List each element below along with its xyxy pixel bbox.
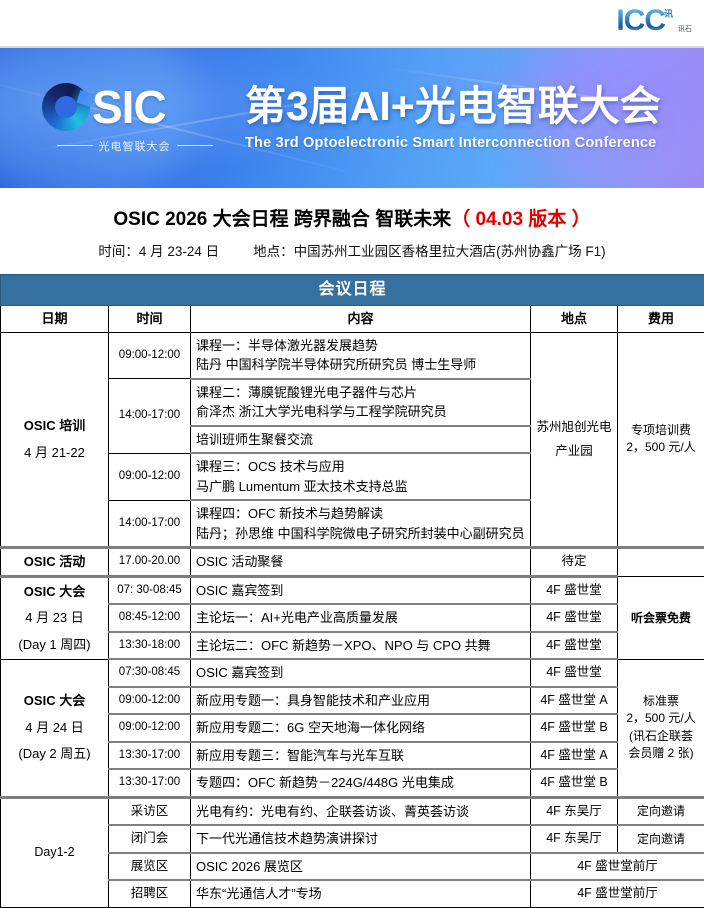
osic-logo-text: SIC [92,84,166,130]
col-header-time: 时间 [109,306,191,333]
rule-right [177,145,213,146]
date-line-1: OSIC 培训 [24,418,85,433]
page-title-version: （ 04.03 版本 ） [451,209,590,230]
event-time-label: 时间：4 月 23-24 日 [98,244,219,259]
cell-venue: 4F 盛世堂 [531,659,618,687]
date-line-2: 4 月 21-22 [6,443,103,463]
table-title: 会议日程 [1,275,704,306]
cell-phase: 闭门会 [109,825,191,853]
osic-logo: SIC 光电智联大会 [42,83,227,154]
cell-time: 13:30-17:00 [109,769,191,797]
content-line-2: 陆丹 中国科学院半导体研究所研究员 博士生导师 [196,355,525,375]
icc-logo-chinese: 讯石 [678,26,694,36]
icc-logo-letters: ICC [616,6,665,36]
cell-venue: 4F 东吴厅 [531,825,618,853]
cell-phase: 采访区 [109,797,191,825]
cell-venue: 4F 盛世堂 [531,604,618,632]
cell-content: 课程三：OCS 技术与应用 马广鹏 Lumentum 亚太技术支持总监 [191,453,531,500]
col-header-fee: 费用 [618,306,704,333]
cell-content: OSIC 2026 展览区 [191,853,531,881]
page-title-main: OSIC 2026 大会日程 跨界融合 智联未来 [113,209,451,230]
fee-line-2: 2，500 元/人 [623,710,699,727]
cell-venue-merged: 4F 盛世堂前厅 [531,853,704,881]
headline-block: OSIC 2026 大会日程 跨界融合 智联未来（ 04.03 版本 ） 时间：… [0,188,704,266]
cell-content: OSIC 嘉宾签到 [191,576,531,604]
cell-fee-day2: 标准票 2，500 元/人 (讯石企联荟 会员赠 2 张) [618,659,704,797]
fee-line-1: 标准票 [623,693,699,710]
cell-content: 课程四：OFC 新技术与趋势解读 陆丹；孙思维 中国科学院微电子研究所封装中心副… [191,500,531,548]
rule-left [57,145,93,146]
date-line-3: (Day 1 周四) [6,635,103,655]
venue-line-1: 苏州旭创光电 [536,418,612,437]
cell-content: OSIC 嘉宾签到 [191,659,531,687]
fee-line-2: 2，500 元/人 [623,439,699,456]
cell-phase: 招聘区 [109,880,191,907]
col-header-date: 日期 [1,306,109,333]
banner-title-cn: 第3届AI+光电智联大会 [245,85,661,128]
cell-time: 13:30-18:00 [109,632,191,660]
cell-fee: 定向邀请 [618,825,704,853]
page-subtitle: 时间：4 月 23-24 日地点：中国苏州工业园区香格里拉大酒店(苏州协鑫广场 … [0,240,704,260]
event-place-label: 地点：中国苏州工业园区香格里拉大酒店(苏州协鑫广场 F1) [253,244,606,259]
table-row: Day1-2 采访区 光电有约：光电有约、企联荟访谈、菁英荟访谈 4F 东吴厅 … [1,797,704,825]
content-line-1: 课程二：薄膜铌酸锂光电子器件与芯片 [196,383,525,403]
cell-time: 07:30-08:45 [109,659,191,687]
date-line-2: 4 月 24 日 [6,718,103,738]
cell-content: 光电有约：光电有约、企联荟访谈、菁英荟访谈 [191,797,531,825]
cell-content: 课程一：半导体激光器发展趋势 陆丹 中国科学院半导体研究所研究员 博士生导师 [191,332,531,379]
page-title: OSIC 2026 大会日程 跨界融合 智联未来（ 04.03 版本 ） [0,204,704,231]
content-line-1: 课程三：OCS 技术与应用 [196,457,525,477]
cell-venue-merged: 4F 盛世堂前厅 [531,880,704,907]
cell-venue: 4F 盛世堂 A [531,687,618,715]
cell-time: 13:30-17:00 [109,742,191,770]
cell-content: 新应用专题一：具身智能技术和产业应用 [191,687,531,715]
cell-time: 07: 30-08:45 [109,576,191,604]
osic-ring-icon [42,83,90,131]
content-line-2: 俞泽杰 浙江大学光电科学与工程学院研究员 [196,402,525,422]
fee-line-1: 专项培训费 [623,422,699,439]
content-line-2: 陆丹；孙思维 中国科学院微电子研究所封装中心副研究员 [196,524,525,544]
cell-venue: 4F 盛世堂 B [531,714,618,742]
cell-content: 新应用专题二：6G 空天地海一体化网络 [191,714,531,742]
cell-date-day2: OSIC 大会 4 月 24 日 (Day 2 周五) [1,659,109,797]
cell-content: 主论坛一：AI+光电产业高质量发展 [191,604,531,632]
cell-venue-training: 苏州旭创光电 产业园 [531,332,618,548]
cell-content: 华东“光通信人才”专场 [191,880,531,907]
date-line-1: OSIC 大会 [24,584,85,599]
top-bar: ICC 讯 讯石 [0,0,704,48]
cell-venue: 4F 盛世堂 B [531,769,618,797]
event-banner: SIC 光电智联大会 第3届AI+光电智联大会 The 3rd Optoelec… [0,48,704,188]
cell-fee-day1: 听会票免费 [618,576,704,659]
icc-logo-superscript: 讯 [664,7,673,20]
cell-content: OSIC 活动聚餐 [191,548,531,577]
table-header-row: 日期 时间 内容 地点 费用 [1,306,704,333]
col-header-content: 内容 [191,306,531,333]
cell-fee: 定向邀请 [618,797,704,825]
fee-line-4: 会员赠 2 张) [623,745,699,762]
cell-date-training: OSIC 培训 4 月 21-22 [1,332,109,548]
cell-content: 主论坛二：OFC 新趋势－XPO、NPO 与 CPO 共舞 [191,632,531,660]
cell-fee-empty [618,548,704,577]
cell-venue: 待定 [531,548,618,577]
table-title-row: 会议日程 [1,275,704,306]
cell-venue: 4F 盛世堂 [531,632,618,660]
cell-content: 课程二：薄膜铌酸锂光电子器件与芯片 俞泽杰 浙江大学光电科学与工程学院研究员 [191,379,531,426]
cell-time: 17.00-20.00 [109,548,191,577]
date-line-2: 4 月 23 日 [6,608,103,628]
cell-fee-training: 专项培训费 2，500 元/人 [618,332,704,548]
cell-time: 09:00-12:00 [109,714,191,742]
cell-phase: 展览区 [109,853,191,881]
content-line-2: 马广鹏 Lumentum 亚太技术支持总监 [196,477,525,497]
table-row: OSIC 培训 4 月 21-22 09:00-12:00 课程一：半导体激光器… [1,332,704,379]
cell-time: 09:00-12:00 [109,332,191,379]
osic-logo-subtitle: 光电智联大会 [99,138,171,154]
date-line-3: (Day 2 周五) [6,744,103,764]
banner-title-en: The 3rd Optoelectronic Smart Interconnec… [245,135,661,151]
cell-content: 专题四：OFC 新趋势－224G/448G 光电集成 [191,769,531,797]
cell-time: 14:00-17:00 [109,379,191,454]
cell-venue: 4F 盛世堂 A [531,742,618,770]
table-row: OSIC 活动 17.00-20.00 OSIC 活动聚餐 待定 [1,548,704,577]
cell-time: 09:00-12:00 [109,453,191,500]
cell-time: 09:00-12:00 [109,687,191,715]
icc-logo: ICC 讯 讯石 [616,6,694,36]
table-row: OSIC 大会 4 月 23 日 (Day 1 周四) 07: 30-08:45… [1,576,704,604]
cell-venue: 4F 东吴厅 [531,797,618,825]
content-line-1: 课程一：半导体激光器发展趋势 [196,336,525,356]
venue-line-2: 产业园 [536,442,612,461]
osic-logo-subtitle-wrap: 光电智联大会 [42,138,227,154]
date-line-1: OSIC 大会 [24,693,85,708]
table-row: OSIC 大会 4 月 24 日 (Day 2 周五) 07:30-08:45 … [1,659,704,687]
cell-venue: 4F 盛世堂 [531,576,618,604]
cell-content: 下一代光通信技术趋势演讲探讨 [191,825,531,853]
cell-date-activity: OSIC 活动 [1,548,109,577]
page-root: ICC 讯 讯石 SIC 光电智联大会 第3届A [0,0,704,908]
cell-date-day12: Day1-2 [1,797,109,907]
banner-titles: 第3届AI+光电智联大会 The 3rd Optoelectronic Smar… [245,85,661,150]
content-line-1: 课程四：OFC 新技术与趋势解读 [196,504,525,524]
agenda-table: 会议日程 日期 时间 内容 地点 费用 OSIC 培训 4 月 21-22 09… [0,274,704,908]
cell-time: 14:00-17:00 [109,500,191,548]
col-header-venue: 地点 [531,306,618,333]
cell-time: 08:45-12:00 [109,604,191,632]
cell-date-day1: OSIC 大会 4 月 23 日 (Day 1 周四) [1,576,109,659]
fee-line-3: (讯石企联荟 [623,728,699,745]
cell-content: 培训班师生聚餐交流 [191,426,531,454]
cell-content: 新应用专题三：智能汽车与光车互联 [191,742,531,770]
